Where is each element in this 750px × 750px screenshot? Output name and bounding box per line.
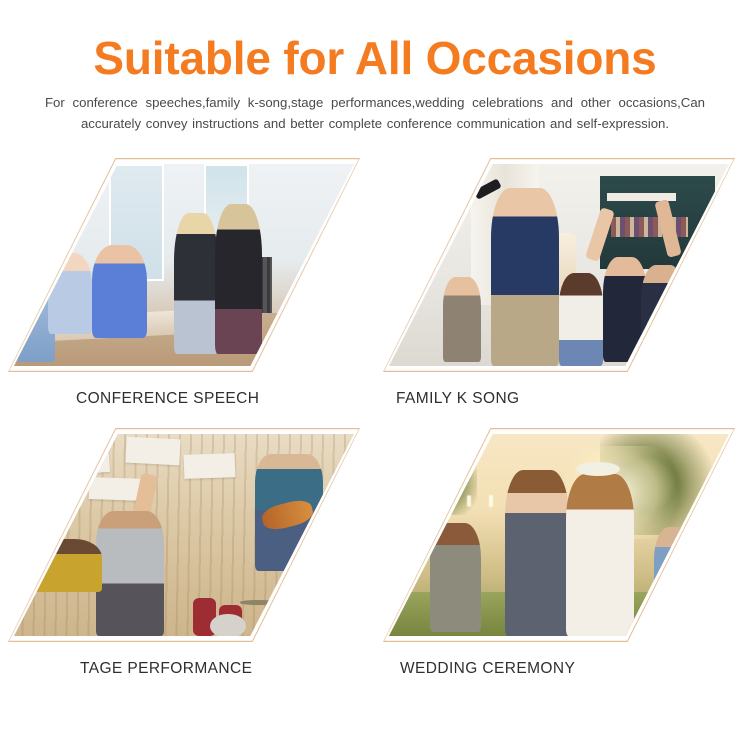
gallery-item-stage-performance[interactable]: TAGE PERFORMANCE [0,428,375,698]
gallery-item-wedding-ceremony[interactable]: WEDDING CEREMONY [375,428,750,698]
page-subtitle: For conference speeches,family k-song,st… [45,93,705,134]
gallery-item-caption: FAMILY K SONG [396,390,520,408]
gallery-item-caption: CONFERENCE SPEECH [76,390,259,408]
gallery-item-caption: TAGE PERFORMANCE [80,660,252,678]
occasion-gallery: CONFERENCE SPEECH FAMILY K SONG [0,158,750,698]
gallery-item-family-k-song[interactable]: FAMILY K SONG [375,158,750,428]
promo-page: Suitable for All Occasions For conferenc… [0,0,750,750]
gallery-item-conference-speech[interactable]: CONFERENCE SPEECH [0,158,375,428]
page-title: Suitable for All Occasions [0,34,750,82]
gallery-item-caption: WEDDING CEREMONY [400,660,575,678]
page-header: Suitable for All Occasions For conferenc… [0,0,750,134]
